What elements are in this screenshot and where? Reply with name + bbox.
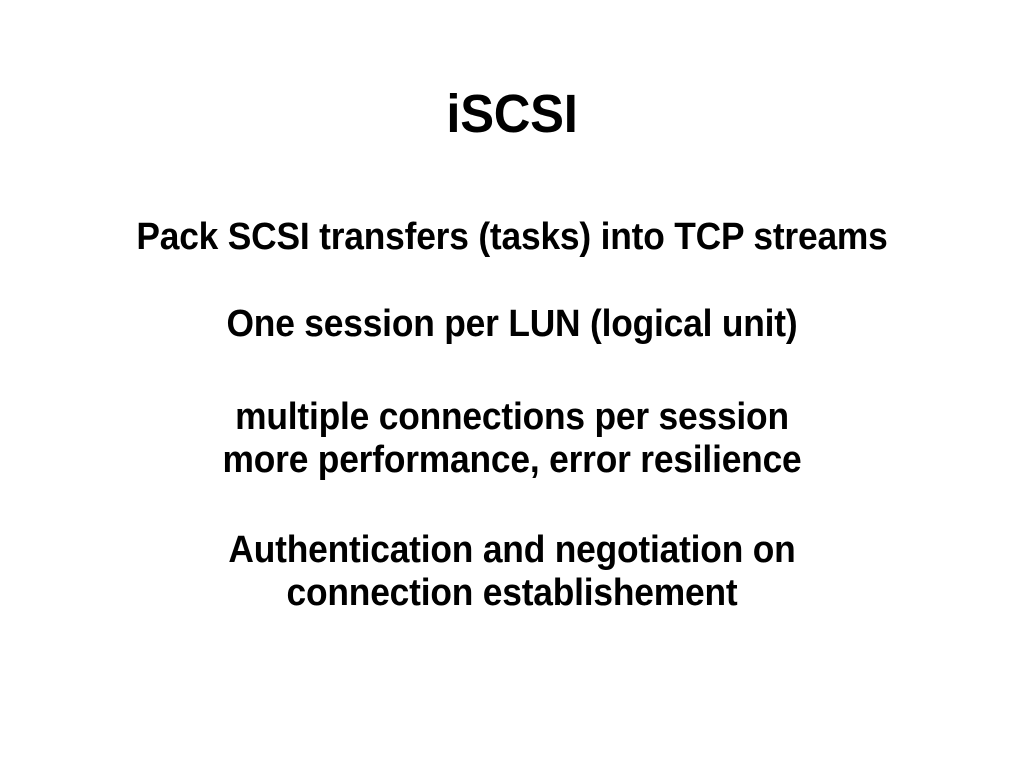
slide-body-line: more performance, error resilience (36, 439, 988, 482)
slide-title: iSCSI (31, 86, 994, 143)
presentation-slide: iSCSI Pack SCSI transfers (tasks) into T… (0, 0, 1024, 768)
slide-body-line: connection establishement (36, 572, 988, 615)
slide-body-line: One session per LUN (logical unit) (36, 303, 988, 346)
slide-body-block-one-session-per-lun: One session per LUN (logical unit) (36, 303, 988, 346)
slide-body-line: Pack SCSI transfers (tasks) into TCP str… (36, 216, 988, 259)
slide-body-block-pack-scsi-transfers: Pack SCSI transfers (tasks) into TCP str… (36, 216, 988, 259)
slide-body-line: Authentication and negotiation on (36, 529, 988, 572)
slide-body-block-multiple-connections: multiple connections per session more pe… (36, 396, 988, 482)
slide-body-block-authentication-negotiation: Authentication and negotiation on connec… (36, 529, 988, 615)
slide-body-line: multiple connections per session (36, 396, 988, 439)
